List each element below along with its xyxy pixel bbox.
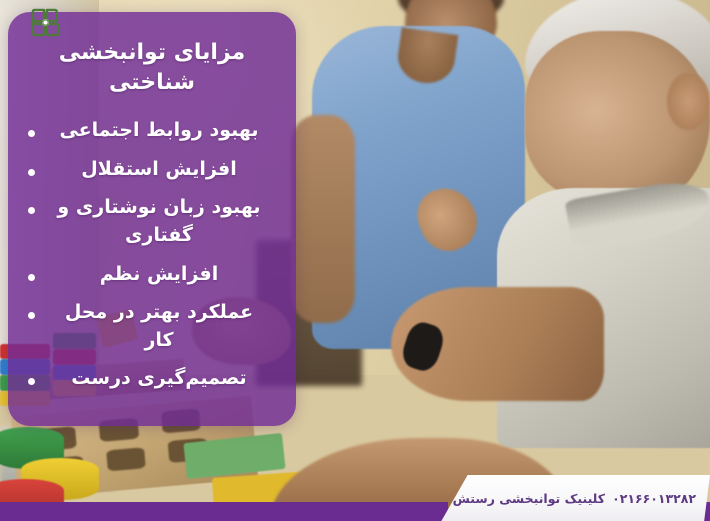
- benefits-list: بهبود روابط اجتماعی افزایش استقلال بهبود…: [8, 117, 296, 392]
- benefit-label: افزایش استقلال: [81, 158, 236, 180]
- nurse-arm: [291, 115, 355, 323]
- bullet-icon: [28, 378, 35, 385]
- list-item: تصمیم‌گیری درست: [22, 365, 270, 393]
- clinic-name: کلینیک توانبخشی رستش: [453, 491, 605, 506]
- benefits-panel: مزایای توانبخشی شناختی بهبود روابط اجتما…: [8, 12, 296, 426]
- bullet-icon: [28, 274, 35, 281]
- list-item: افزایش استقلال: [22, 156, 270, 184]
- benefit-label: عملکرد بهتر در محل کار: [65, 301, 253, 351]
- clinic-phone[interactable]: ۰۲۱۶۶۰۱۳۲۸۲: [612, 491, 696, 506]
- infographic-canvas: مزایای توانبخشی شناختی بهبود روابط اجتما…: [0, 0, 710, 521]
- brand-text-group: ۰۲۱۶۶۰۱۳۲۸۲ کلینیک توانبخشی رستش: [453, 491, 696, 506]
- bullet-icon: [28, 130, 35, 137]
- benefit-label: بهبود زبان نوشتاری و گفتاری: [57, 196, 260, 246]
- benefit-label: بهبود روابط اجتماعی: [59, 119, 258, 141]
- list-item: بهبود روابط اجتماعی: [22, 117, 270, 145]
- benefit-label: تصمیم‌گیری درست: [71, 367, 246, 389]
- benefit-label: افزایش نظم: [100, 263, 218, 285]
- list-item: افزایش نظم: [22, 261, 270, 289]
- bullet-icon: [28, 312, 35, 319]
- bullet-icon: [28, 169, 35, 176]
- list-item: عملکرد بهتر در محل کار: [22, 299, 270, 354]
- man-ear: [667, 73, 710, 130]
- list-item: بهبود زبان نوشتاری و گفتاری: [22, 194, 270, 249]
- clover-leaf-icon: [30, 7, 61, 38]
- bottom-accent-bar: [0, 502, 448, 521]
- bullet-icon: [28, 207, 35, 214]
